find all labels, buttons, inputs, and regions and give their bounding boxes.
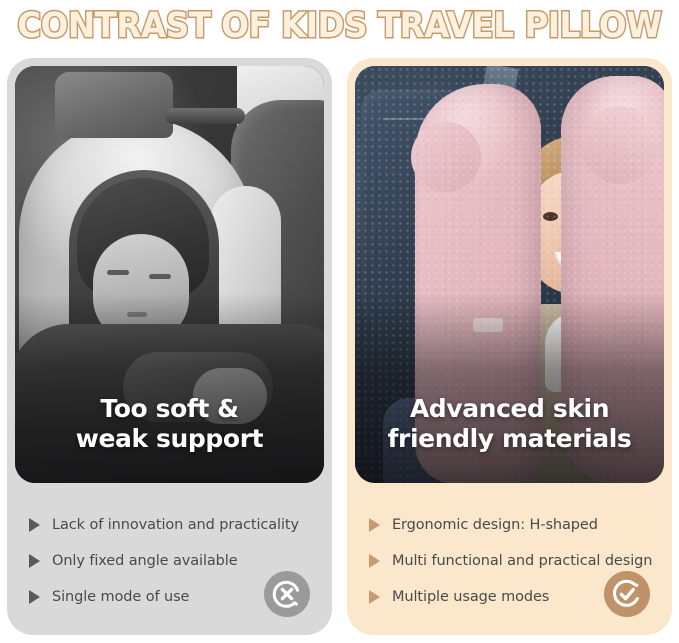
triangle-bullet-icon [29, 554, 40, 568]
headrest-bar [165, 108, 245, 124]
triangle-bullet-icon [369, 554, 380, 568]
photo-caption-drawback: Too soft & weak support [15, 394, 324, 453]
list-item: Only fixed angle available [25, 543, 314, 579]
photo-smiling-child-pink-pillow: Advanced skin friendly materials [355, 66, 664, 483]
caption-scrim [15, 293, 324, 483]
comparison-card-benefit: Advanced skin friendly materials Ergonom… [347, 58, 672, 635]
caption-line-2: weak support [29, 424, 310, 454]
photo-sleeping-child-grayscale: Too soft & weak support [15, 66, 324, 483]
travel-pillow-left-lobe [411, 122, 481, 192]
list-item: Lack of innovation and practicality [25, 507, 314, 543]
x-circle-icon [270, 577, 304, 611]
car-headrest [55, 72, 173, 138]
check-circle-icon [610, 577, 644, 611]
list-item-label: Multiple usage modes [392, 589, 549, 605]
caption-line-1: Too soft & [29, 394, 310, 424]
page-title: CONTRAST OF KIDS TRAVEL PILLOW [17, 9, 661, 44]
list-item-label: Ergonomic design: H-shaped [392, 517, 598, 533]
triangle-bullet-icon [29, 590, 40, 604]
child-eye-left [543, 212, 558, 221]
triangle-bullet-icon [369, 518, 380, 532]
list-item-label: Lack of innovation and practicality [52, 517, 299, 533]
caption-line-1: Advanced skin [369, 394, 650, 424]
triangle-bullet-icon [29, 518, 40, 532]
caption-scrim [355, 293, 664, 483]
list-item: Multi functional and practical design [365, 543, 654, 579]
list-item-label: Multi functional and practical design [392, 553, 652, 569]
child-eye-closed-left [107, 270, 129, 275]
status-badge-positive [604, 571, 650, 617]
child-eye-closed-right [149, 274, 171, 279]
title-bar: CONTRAST OF KIDS TRAVEL PILLOW [0, 0, 679, 52]
photo-caption-benefit: Advanced skin friendly materials [355, 394, 664, 453]
caption-line-2: friendly materials [369, 424, 650, 454]
triangle-bullet-icon [369, 590, 380, 604]
comparison-card-drawback: Too soft & weak support Lack of innovati… [7, 58, 332, 635]
list-item: Ergonomic design: H-shaped [365, 507, 654, 543]
status-badge-negative [264, 571, 310, 617]
infographic-root: CONTRAST OF KIDS TRAVEL PILLOW Too soft … [0, 0, 679, 643]
list-item-label: Single mode of use [52, 589, 189, 605]
list-item-label: Only fixed angle available [52, 553, 238, 569]
travel-pillow-right-lobe [581, 106, 659, 184]
